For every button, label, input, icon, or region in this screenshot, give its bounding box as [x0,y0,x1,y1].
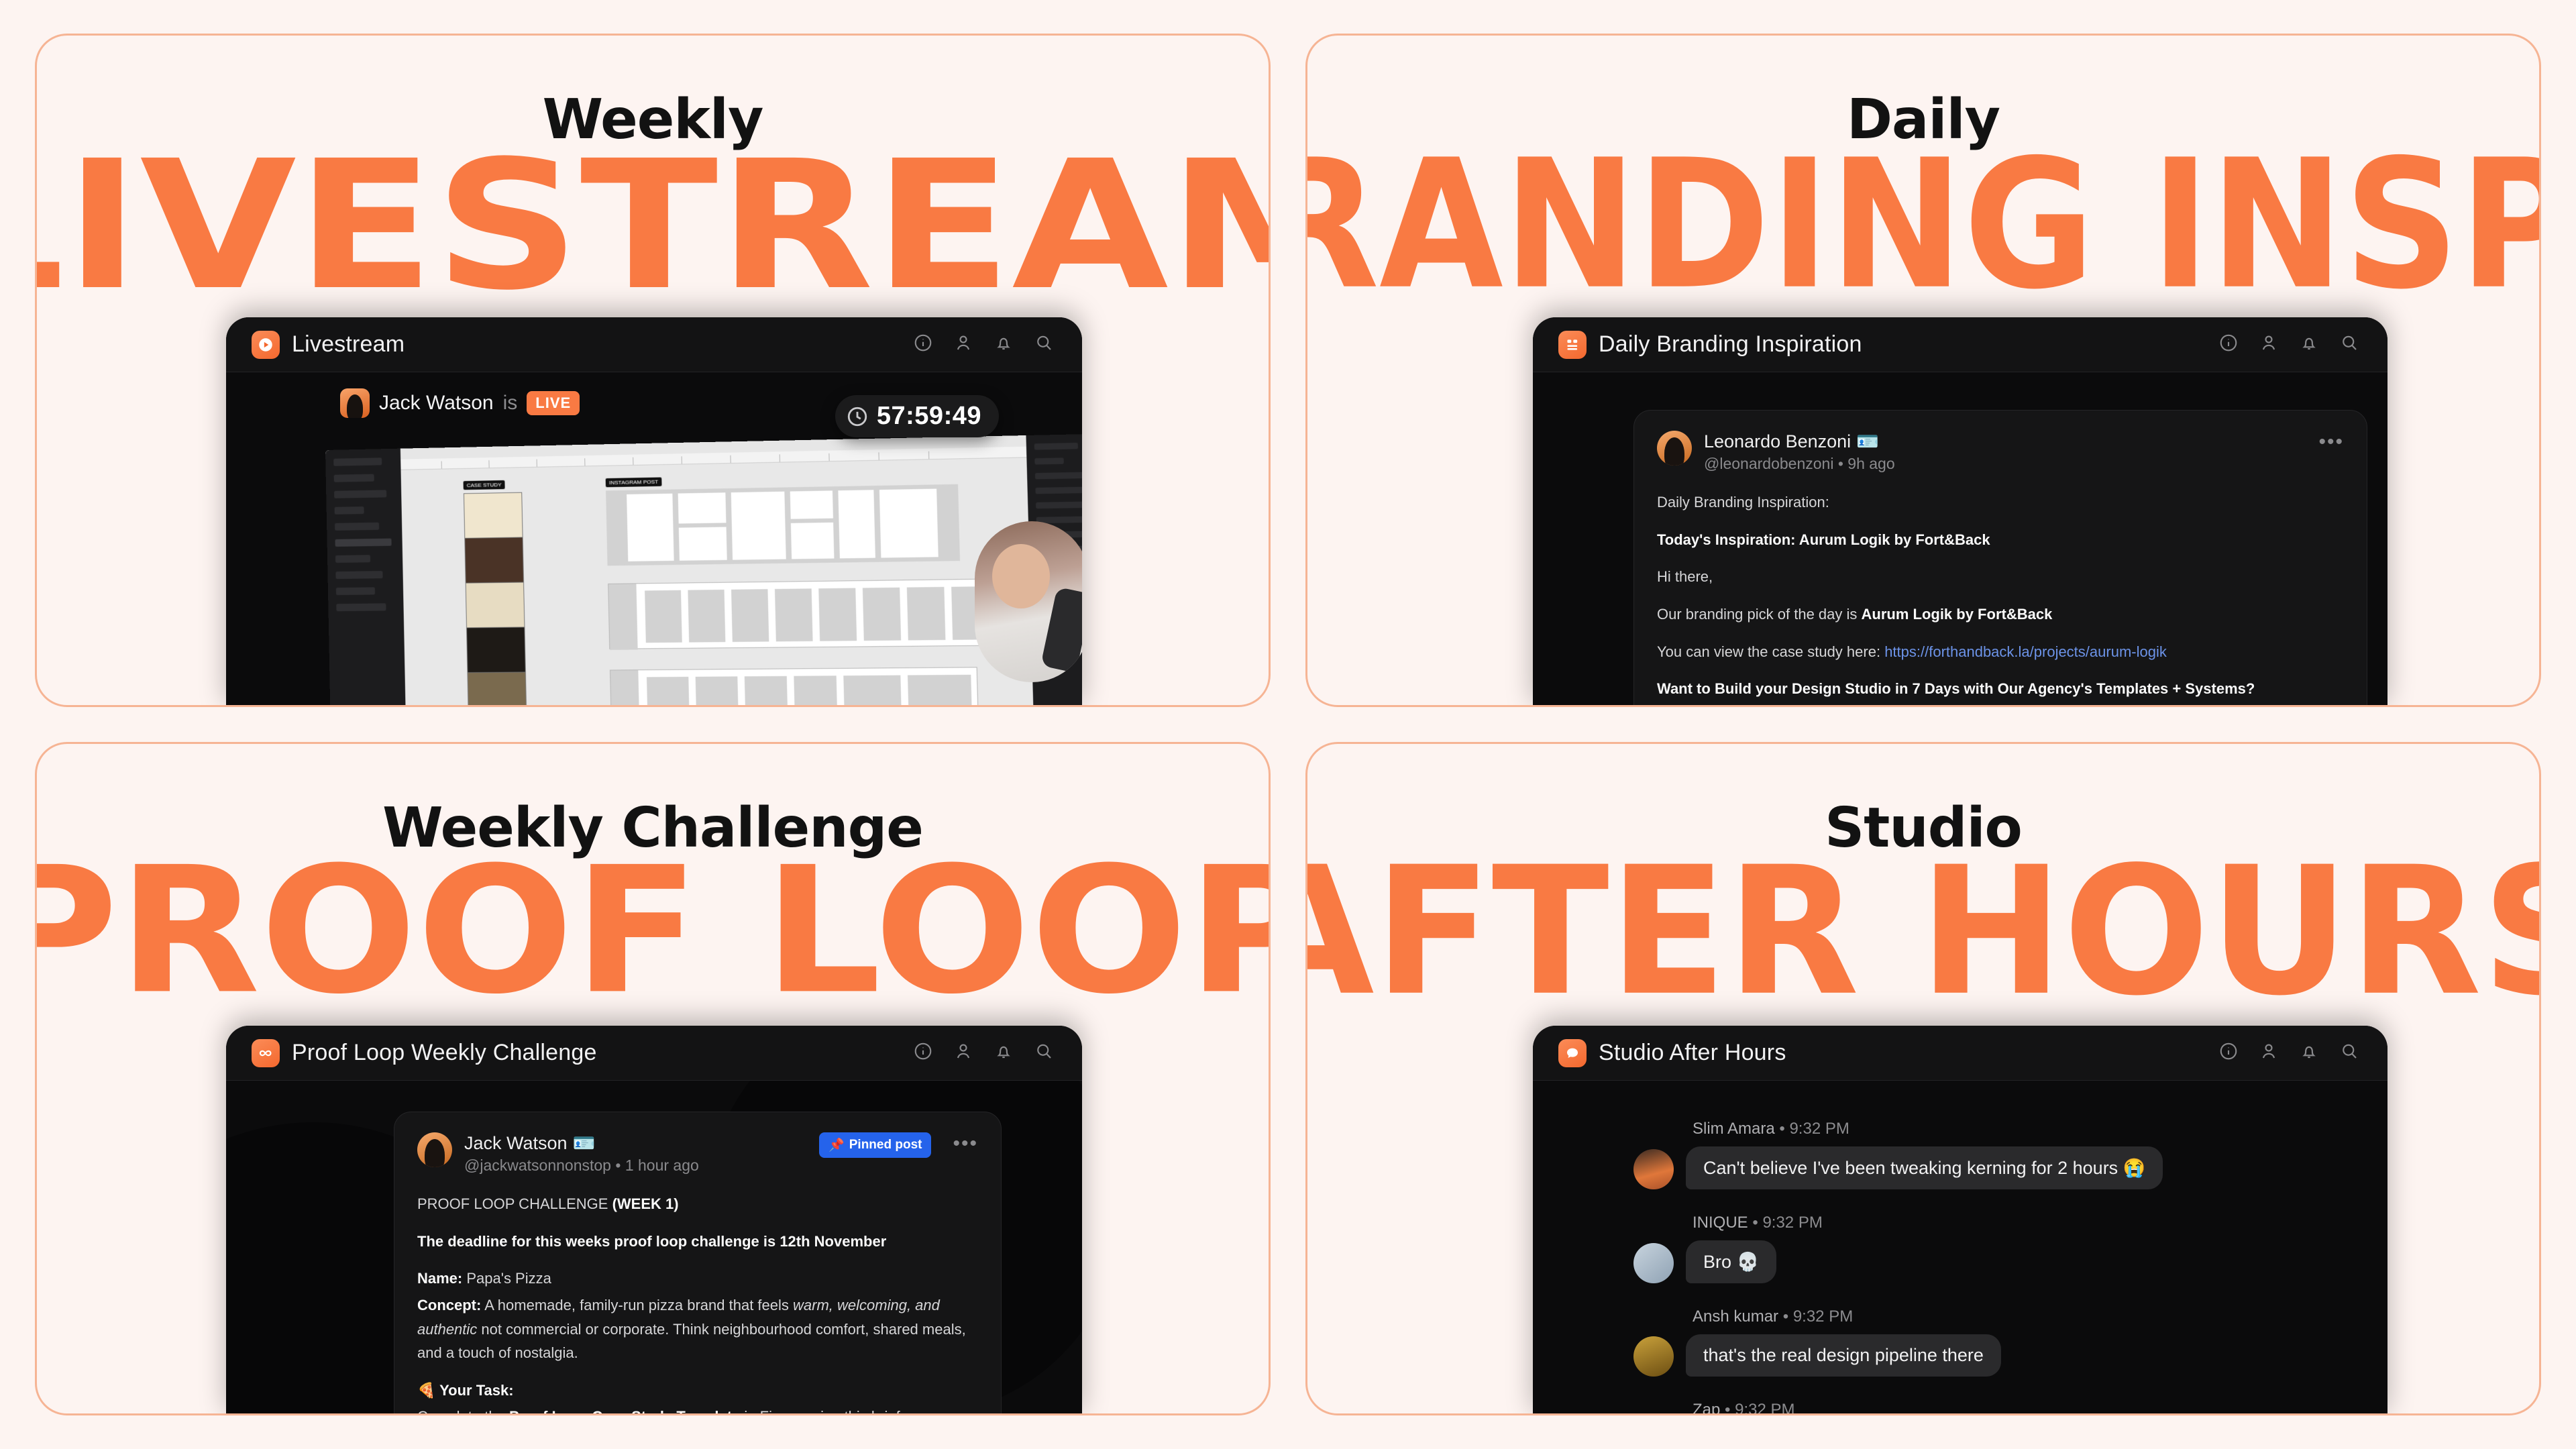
window-titlebar: Livestream [226,317,1082,372]
message-meta: Slim Amara • 9:32 PM [1693,1120,2347,1138]
card-headline: PROOF LOOP [35,863,1271,1000]
post-more-menu[interactable]: ••• [2318,431,2344,453]
message-author: Ansh kumar [1693,1307,1778,1326]
app-window-daily: Daily Branding Inspiration [1533,317,2387,707]
post-container: Leonardo Benzoni 🪪 @leonardobenzoni • 9h… [1633,410,2367,707]
post-author: Leonardo Benzoni 🪪 [1704,431,1895,452]
infinity-icon [252,1039,280,1067]
avatar [1633,1336,1674,1377]
bell-icon[interactable] [2299,1041,2319,1065]
post-card[interactable]: Jack Watson 🪪 @jackwatsonnonstop • 1 hou… [394,1112,1002,1415]
message-meta: INIQUE • 9:32 PM [1693,1214,2347,1232]
stream-timer: 57:59:49 [835,395,999,437]
post-line-intro: Daily Branding Inspiration: [1657,490,2344,515]
search-icon[interactable] [2339,1041,2359,1065]
post-line-cta: Want to Build your Design Studio in 7 Da… [1657,680,2255,697]
search-icon[interactable] [1034,333,1054,356]
post-line-pick: Our branding pick of the day is Aurum Lo… [1657,602,2344,627]
cards-grid: Weekly LIVESTREAM Livestream Jack Watso [0,0,2576,1449]
message-time: 9:32 PM [1793,1307,1853,1326]
post-author: Jack Watson 🪪 [464,1132,699,1154]
info-icon[interactable] [913,1041,933,1065]
studio-chat-body: Slim Amara • 9:32 PM Can't believe I've … [1533,1081,2387,1415]
post-card[interactable]: Leonardo Benzoni 🪪 @leonardobenzoni • 9h… [1633,410,2367,707]
proof-loop-body: Jack Watson 🪪 @jackwatsonnonstop • 1 hou… [226,1081,1082,1415]
message-time: 9:32 PM [1789,1120,1849,1138]
post-more-menu[interactable]: ••• [953,1132,978,1155]
frame-sheet-2 [610,667,979,707]
post-line-today: Today's Inspiration: Aurum Logik by Fort… [1657,531,1990,548]
window-title: Daily Branding Inspiration [1599,331,1862,358]
post-handle-time: @leonardobenzoni • 9h ago [1704,455,1895,473]
chat-message: Slim Amara • 9:32 PM Can't believe I've … [1633,1120,2347,1189]
quote-icon [1558,331,1587,359]
post-line-name: Name: Papa's Pizza [417,1267,978,1291]
person-icon[interactable] [953,333,973,356]
app-window-studio: Studio After Hours Slim Amara • 9:32 PM [1533,1026,2387,1415]
post-header: Jack Watson 🪪 @jackwatsonnonstop • 1 hou… [417,1132,978,1175]
post-line-deadline: The deadline for this weeks proof loop c… [417,1233,886,1250]
streamer-name: Jack Watson [379,392,494,415]
case-study-frame [464,492,527,707]
figma-ruler [400,447,1026,470]
card-livestream[interactable]: Weekly LIVESTREAM Livestream Jack Watso [35,34,1271,707]
info-icon[interactable] [2218,1041,2239,1065]
card-headline: LIVESTREAM [35,156,1271,295]
message-bubble: Can't believe I've been tweaking kerning… [1686,1146,2163,1189]
chat-message: INIQUE • 9:32 PM Bro 💀 [1633,1214,2347,1283]
post-body: PROOF LOOP CHALLENGE (WEEK 1) The deadli… [417,1192,978,1415]
info-icon[interactable] [2218,333,2239,356]
bell-icon[interactable] [994,333,1014,356]
post-line-greeting: Hi there, [1657,565,2344,589]
bell-icon[interactable] [994,1041,1014,1065]
live-badge: LIVE [527,391,580,415]
frame-label-instagram: INSTAGRAM POST [606,477,662,487]
card-proof-loop[interactable]: Weekly Challenge PROOF LOOP Proof Loop W… [35,742,1271,1415]
clock-icon [846,405,869,428]
post-line-case: You can view the case study here: https:… [1657,640,2344,664]
window-title: Livestream [292,331,405,358]
daily-body: Leonardo Benzoni 🪪 @leonardobenzoni • 9h… [1533,372,2387,707]
person-icon[interactable] [953,1041,973,1065]
frame-instagram-post [606,484,960,566]
search-icon[interactable] [2339,333,2359,356]
timer-value: 57:59:49 [877,402,981,431]
window-title: Studio After Hours [1599,1040,1786,1066]
window-titlebar: Studio After Hours [1533,1026,2387,1081]
app-window-proof-loop: Proof Loop Weekly Challenge [226,1026,1082,1415]
window-titlebar: Daily Branding Inspiration [1533,317,2387,372]
message-meta: Ansh kumar • 9:32 PM [1693,1307,2347,1326]
post-line-cta-link: Click here: https://whop.com/pro-agency-… [1657,705,2344,707]
window-title: Proof Loop Weekly Challenge [292,1040,597,1066]
card-headline: BRANDING INSPO [1305,156,2541,295]
message-bubble: Bro 💀 [1686,1240,1776,1283]
info-icon[interactable] [913,333,933,356]
verified-icon: 🪪 [1856,431,1879,452]
app-window-livestream: Livestream Jack Watson is LIVE [226,317,1082,707]
post-line-title: PROOF LOOP CHALLENGE (WEEK 1) [417,1192,978,1216]
message-bubble: that's the real design pipeline there [1686,1334,2001,1377]
chat-message: Zap • 9:32 PM wait show us the logo [1633,1401,2347,1415]
window-titlebar: Proof Loop Weekly Challenge [226,1026,1082,1081]
play-circle-icon [252,331,280,359]
avatar [1633,1243,1674,1283]
livestream-body: Jack Watson is LIVE [226,372,1082,707]
pinned-post-badge: 📌 Pinned post [819,1132,931,1158]
message-author: Zap [1693,1401,1720,1415]
card-after-hours[interactable]: Studio AFTER HOURS Studio After Hours [1305,742,2541,1415]
post-handle-time: @jackwatsonnonstop • 1 hour ago [464,1157,699,1175]
avatar [1657,431,1692,466]
window-actions [2218,333,2359,356]
verified-icon: 🪪 [573,1132,596,1154]
search-icon[interactable] [1034,1041,1054,1065]
post-line-task: Complete the Proof Loop Case Study Templ… [417,1405,978,1415]
case-study-link[interactable]: https://forthandback.la/projects/aurum-l… [1884,643,2167,660]
avatar [340,388,370,418]
bell-icon[interactable] [2299,333,2319,356]
window-actions [913,1041,1054,1065]
post-line-concept: Concept: A homemade, family-run pizza br… [417,1293,978,1365]
message-author: INIQUE [1693,1214,1748,1232]
window-actions [913,333,1054,356]
chat-message: Ansh kumar • 9:32 PM that's the real des… [1633,1307,2347,1377]
streamer-camera-feed [975,521,1082,682]
avatar [1633,1149,1674,1189]
post-container: Jack Watson 🪪 @jackwatsonnonstop • 1 hou… [394,1112,1002,1415]
post-body: Daily Branding Inspiration: Today's Insp… [1657,490,2344,707]
card-headline: AFTER HOURS [1305,863,2541,1002]
window-actions [2218,1041,2359,1065]
chat-message-list[interactable]: Slim Amara • 9:32 PM Can't believe I've … [1633,1120,2361,1415]
figma-viewport: CASE STUDY [400,447,1034,707]
person-icon[interactable] [2259,333,2279,356]
figma-left-panel [325,449,406,707]
figma-canvas-screenshare: CASE STUDY [325,433,1082,707]
message-time: 9:32 PM [1762,1214,1822,1232]
message-time: 9:32 PM [1735,1401,1794,1415]
live-connector: is [503,392,518,415]
frame-label-case-study: CASE STUDY [464,480,505,490]
message-meta: Zap • 9:32 PM [1693,1401,2347,1415]
chat-bubble-icon [1558,1039,1587,1067]
card-branding-inspo[interactable]: Daily BRANDING INSPO Daily Branding Insp… [1305,34,2541,707]
message-author: Slim Amara [1693,1120,1775,1138]
post-line-task-heading: 🍕 Your Task: [417,1382,514,1399]
person-icon[interactable] [2259,1041,2279,1065]
pin-icon: 📌 [828,1137,845,1153]
post-header: Leonardo Benzoni 🪪 @leonardobenzoni • 9h… [1657,431,2344,473]
avatar [417,1132,452,1167]
